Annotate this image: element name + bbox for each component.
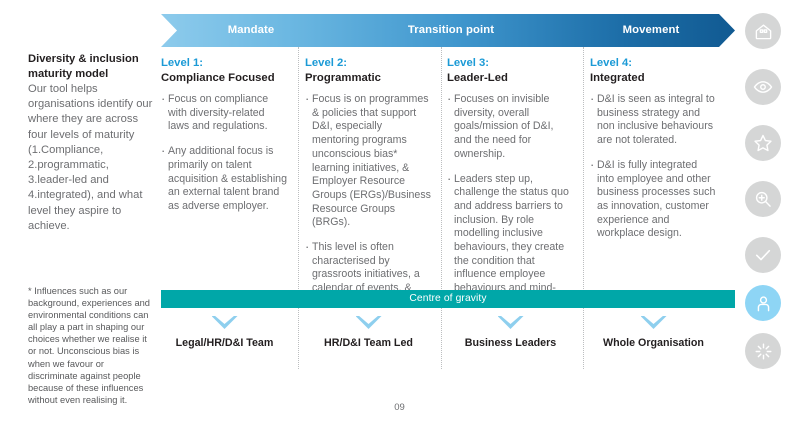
intro-title-line2: maturity model	[28, 68, 108, 80]
level-number-label: Level 1:	[161, 56, 288, 71]
star-icon-button[interactable]	[745, 125, 781, 161]
column-divider	[298, 47, 300, 369]
footnote-text: * Influences such as our background, exp…	[28, 285, 156, 406]
column-divider	[583, 47, 585, 369]
level-bullet: Focuses on invisible diversity, overall …	[447, 93, 574, 162]
banner-segment-mandate: Mandate	[181, 14, 321, 47]
zoom-in-icon-button[interactable]	[745, 181, 781, 217]
level-number-label: Level 4:	[590, 56, 717, 71]
maturity-phase-banner: Mandate Transition point Movement	[161, 14, 735, 47]
level-name-label: Compliance Focused	[161, 71, 288, 86]
footer-cell-3: Business Leaders	[447, 316, 574, 349]
footer-cell-4: Whole Organisation	[590, 316, 717, 349]
level-name-label: Leader-Led	[447, 71, 574, 86]
eye-icon-button[interactable]	[745, 69, 781, 105]
level-column-2: Level 2: Programmatic Focus is on progra…	[305, 56, 432, 321]
right-icon-rail	[735, 0, 793, 425]
level-name-label: Programmatic	[305, 71, 432, 86]
footer-cell-2: HR/D&I Team Led	[305, 316, 432, 349]
level-bullet: D&I is fully integrated into employee an…	[590, 159, 717, 241]
footer-label: Business Leaders	[447, 337, 574, 349]
level-bullet: Focus is on programmes & policies that s…	[305, 93, 432, 230]
level-column-4: Level 4: Integrated D&I is seen as integ…	[590, 56, 717, 252]
intro-body: Our tool helps organisations identify ou…	[28, 82, 154, 234]
level-bullet-list: D&I is seen as integral to business stra…	[590, 93, 717, 241]
level-bullet-list: Focus is on programmes & policies that s…	[305, 93, 432, 310]
footer-label: Legal/HR/D&I Team	[161, 337, 288, 349]
chevron-down-icon	[641, 316, 667, 329]
level-bullet-list: Focuses on invisible diversity, overall …	[447, 93, 574, 310]
banner-segment-movement: Movement	[581, 14, 721, 47]
level-number-label: Level 2:	[305, 56, 432, 71]
footer-cell-1: Legal/HR/D&I Team	[161, 316, 288, 349]
level-number-label: Level 3:	[447, 56, 574, 71]
check-icon	[753, 245, 773, 265]
level-column-3: Level 3: Leader-Led Focuses on invisible…	[447, 56, 574, 321]
intro-title-line1: Diversity & inclusion	[28, 53, 139, 65]
loading-spinner-icon	[754, 342, 773, 361]
intro-block: Diversity & inclusion maturity model Our…	[28, 52, 154, 234]
chevron-down-icon	[498, 316, 524, 329]
level-bullet-list: Focus on compliance with diversity-relat…	[161, 93, 288, 214]
eye-icon	[753, 77, 773, 97]
chevron-down-icon	[212, 316, 238, 329]
check-icon-button[interactable]	[745, 237, 781, 273]
page-number: 09	[0, 402, 799, 413]
star-icon	[753, 133, 773, 153]
footer-label: Whole Organisation	[590, 337, 717, 349]
home-icon	[754, 22, 773, 41]
level-bullet: Leaders step up, challenge the status qu…	[447, 173, 574, 310]
intro-title: Diversity & inclusion maturity model	[28, 52, 154, 81]
centre-of-gravity-bar: Centre of gravity	[161, 290, 735, 308]
level-column-1: Level 1: Compliance Focused Focus on com…	[161, 56, 288, 225]
chevron-down-icon	[356, 316, 382, 329]
zoom-in-icon	[753, 189, 773, 209]
level-bullet: Focus on compliance with diversity-relat…	[161, 93, 288, 134]
level-bullet: Any additional focus is primarily on tal…	[161, 145, 288, 214]
level-bullet: D&I is seen as integral to business stra…	[590, 93, 717, 148]
level-name-label: Integrated	[590, 71, 717, 86]
person-icon	[754, 294, 773, 313]
loading-spinner-icon-button[interactable]	[745, 333, 781, 369]
person-icon-button[interactable]	[745, 285, 781, 321]
banner-segment-transition-point: Transition point	[361, 14, 541, 47]
home-icon-button[interactable]	[745, 13, 781, 49]
footer-label: HR/D&I Team Led	[305, 337, 432, 349]
column-divider	[441, 47, 443, 369]
